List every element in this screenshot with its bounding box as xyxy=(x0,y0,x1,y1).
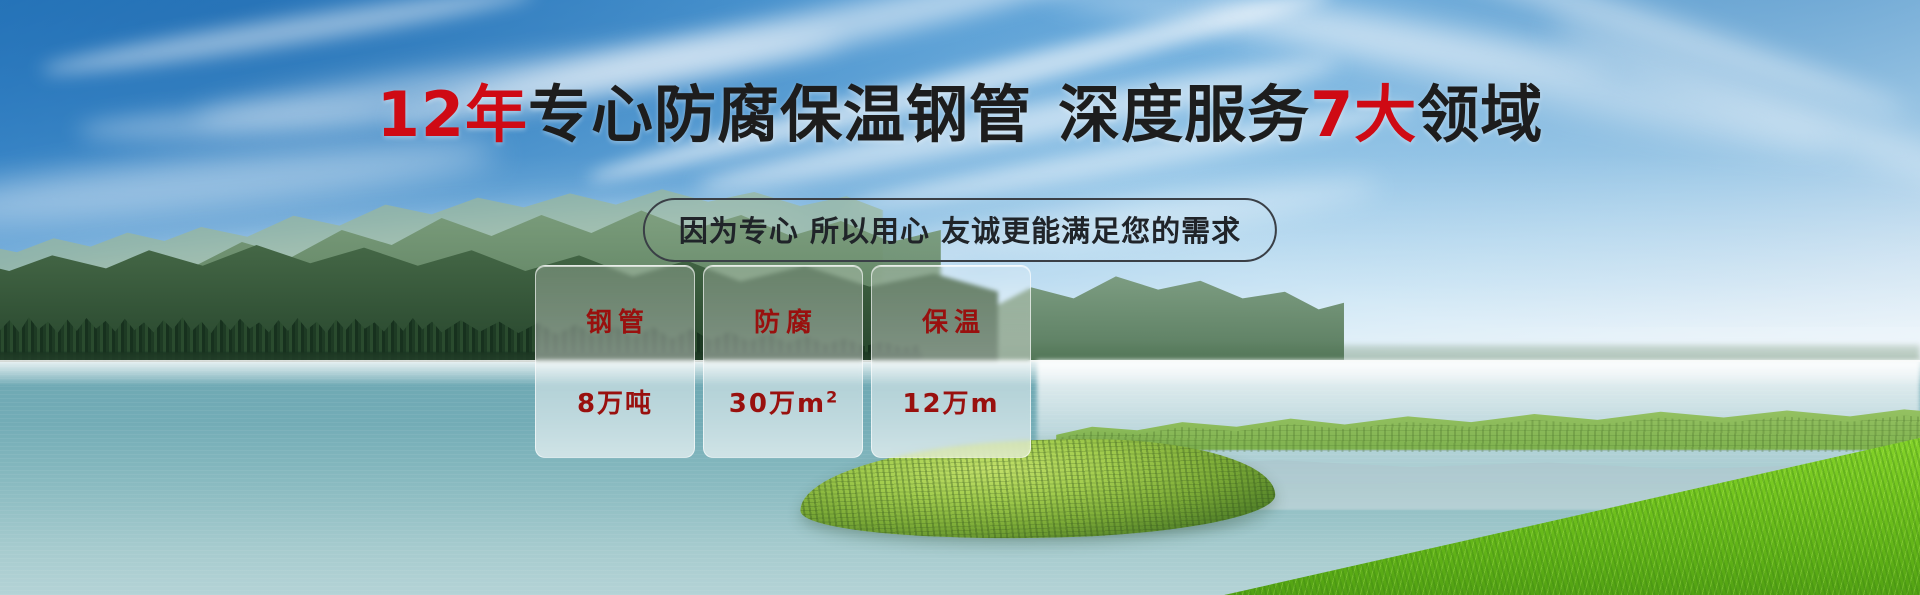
stat-card-steel-pipe[interactable]: 钢管 8万吨 xyxy=(535,265,695,458)
stat-card-title: 保温 xyxy=(916,302,986,339)
stat-value-text: 12万m xyxy=(902,389,999,419)
stat-card-value: 12万m xyxy=(902,383,999,420)
stat-value-superscript: 2 xyxy=(826,387,837,406)
stat-card-value: 8万吨 xyxy=(577,383,653,420)
stat-card-title: 防腐 xyxy=(748,302,818,339)
headline-years: 12年 xyxy=(377,78,528,151)
headline-main-text: 专心防腐保温钢管 xyxy=(528,78,1032,151)
headline-service-text: 深度服务 xyxy=(1058,78,1310,151)
stat-card-title: 钢管 xyxy=(580,302,650,339)
stat-card-value: 30万m2 xyxy=(729,383,837,420)
headline-domain-text: 领域 xyxy=(1417,78,1543,151)
stat-value-text: 30万m xyxy=(729,389,826,419)
stat-card-insulation[interactable]: 保温 12万m xyxy=(871,265,1031,458)
hero-banner: 12年专心防腐保温钢管深度服务7大领域 因为专心 所以用心 友诚更能满足您的需求… xyxy=(0,0,1920,595)
banner-headline: 12年专心防腐保温钢管深度服务7大领域 xyxy=(0,84,1920,146)
stat-cards: 钢管 8万吨 防腐 30万m2 保温 12万m xyxy=(535,265,1031,458)
stat-value-text: 8万吨 xyxy=(577,389,653,419)
headline-seven-fields: 7大 xyxy=(1310,78,1417,151)
stat-card-anticorrosion[interactable]: 防腐 30万m2 xyxy=(703,265,863,458)
banner-subtitle-pill: 因为专心 所以用心 友诚更能满足您的需求 xyxy=(643,198,1277,262)
